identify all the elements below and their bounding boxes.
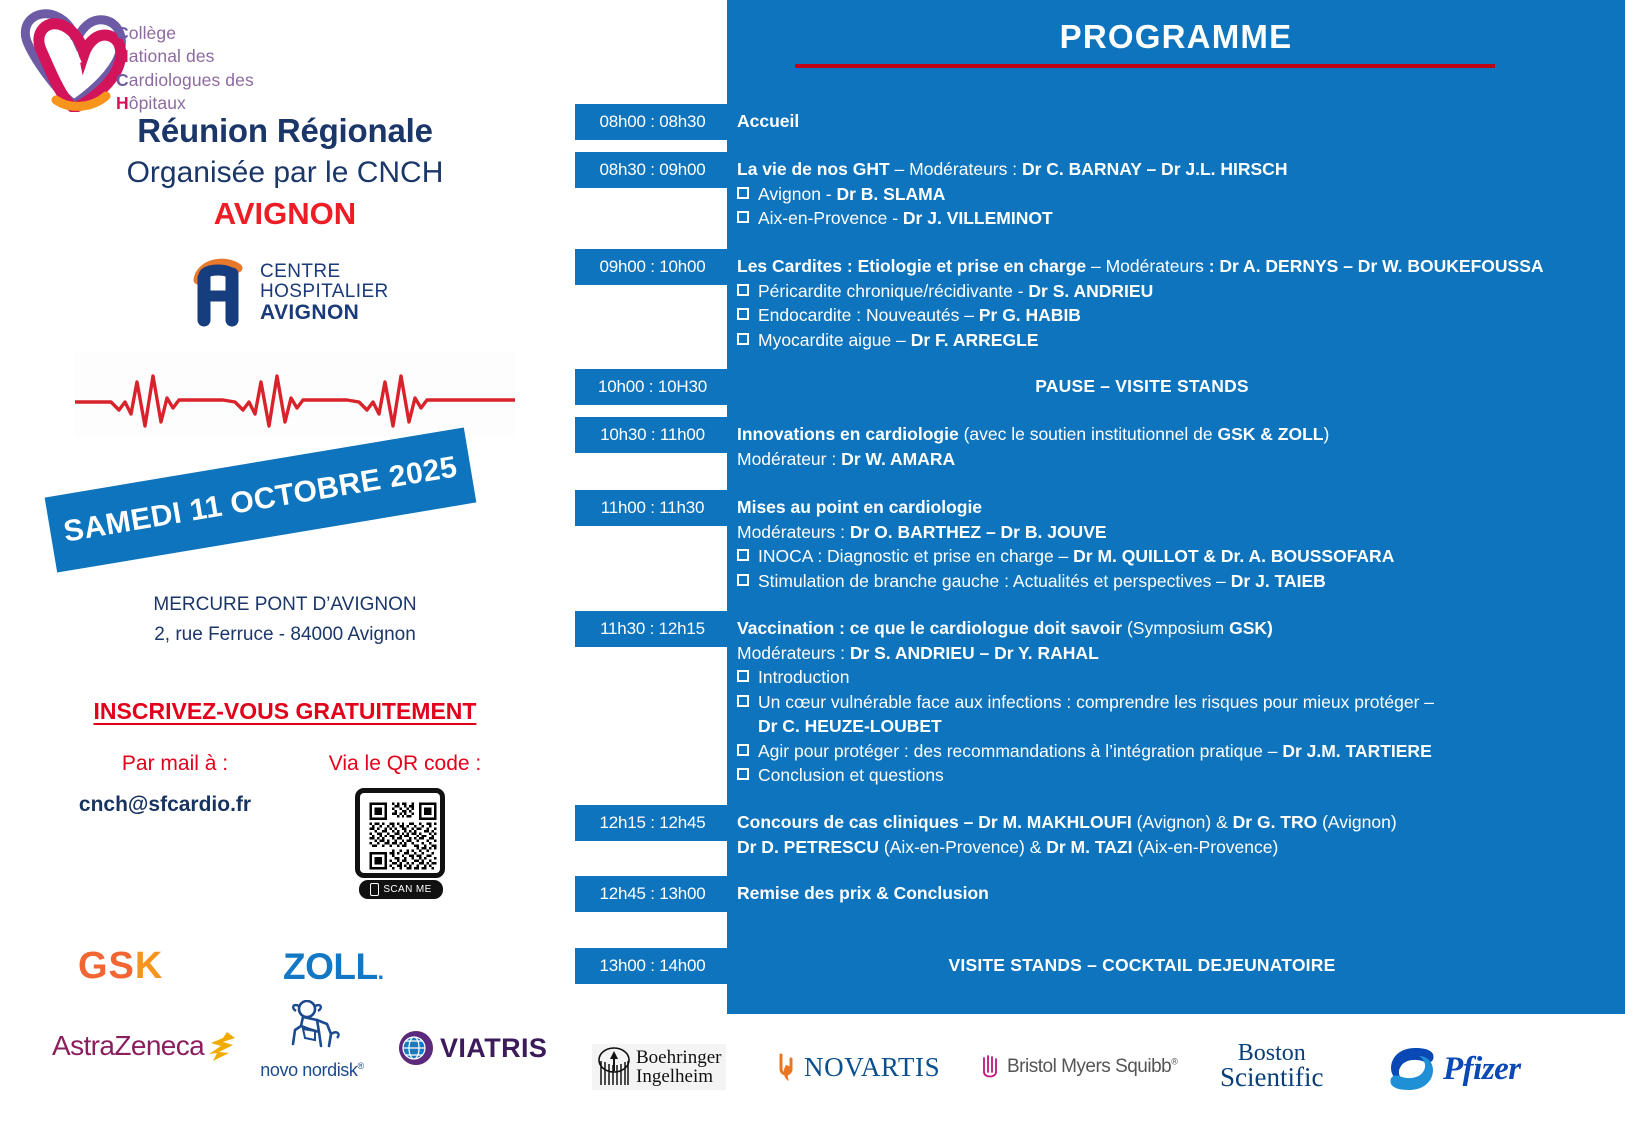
session-centered-line: VISITE STANDS – COCKTAIL DEJEUNATOIRE (737, 953, 1547, 978)
session-bullet-text: Conclusion et questions (758, 763, 1617, 788)
checkbox-bullet-icon (737, 333, 749, 345)
session-text-bold: Dr B. SLAMA (836, 184, 945, 204)
session-title-line: Concours de cas cliniques – Dr M. MAKHLO… (737, 810, 1617, 835)
event-subtitle: Organisée par le CNCH (0, 156, 570, 190)
session-body: Remise des prix & Conclusion (737, 881, 1617, 906)
session-text-bold: Accueil (737, 111, 799, 131)
hospital-line-2: HOSPITALIER (260, 282, 389, 302)
checkbox-bullet-icon (737, 211, 749, 223)
time-badge: 13h00 : 14h00 (575, 948, 730, 984)
gsk-part-1: GS (78, 945, 135, 987)
cnch-line-1: Collège (116, 22, 254, 45)
session-bullet-text: Endocardite : Nouveautés – Pr G. HABIB (758, 303, 1617, 328)
scan-me-badge: SCAN ME (359, 880, 443, 899)
session-bullet-row: Avignon - Dr B. SLAMA (737, 182, 1617, 207)
session-text-bold: Concours de cas cliniques – Dr M. MAKHLO… (737, 812, 1132, 832)
time-badge-label: 11h30 : 12h15 (600, 619, 705, 639)
boehringer-text-wrap: Boehringer Ingelheim (636, 1048, 721, 1086)
session-centered-line: PAUSE – VISITE STANDS (737, 374, 1547, 399)
session-bullet-row: Myocardite aigue – Dr F. ARREGLE (737, 328, 1617, 353)
session-text-bold: : Dr A. DERNYS – Dr W. BOUKEFOUSSA (1209, 256, 1544, 276)
session-bullet-row: Introduction (737, 665, 1617, 690)
venue-address: 2, rue Ferruce - 84000 Avignon (0, 624, 570, 646)
time-badge: 11h30 : 12h15 (575, 611, 730, 647)
session-text: Aix-en-Provence - (758, 208, 903, 228)
checkbox-bullet-icon (737, 187, 749, 199)
session-text-bold: Dr M. TAZI (1046, 837, 1132, 857)
novartis-text: NOVARTIS (804, 1052, 940, 1083)
time-badge: 10h30 : 11h00 (575, 417, 730, 453)
session-bullet-text: Un cœur vulnérable face aux infections :… (758, 690, 1617, 715)
session-text: (Aix-en-Provence) (1132, 837, 1278, 857)
session-bullet-text: Stimulation de branche gauche : Actualit… (758, 569, 1617, 594)
session-text-bold: Innovations en cardiologie (737, 424, 959, 444)
bms-mark: ® (1171, 1057, 1177, 1067)
session-text-bold: Dr S. ANDRIEU – Dr Y. RAHAL (850, 643, 1099, 663)
session-text: Un cœur vulnérable face aux infections :… (758, 692, 1434, 712)
novo-nordisk-text-wrap: novo nordisk® (258, 1060, 366, 1081)
session-bullet-text: INOCA : Diagnostic et prise en charge – … (758, 544, 1617, 569)
session-text: Péricardite chronique/récidivante - (758, 281, 1028, 301)
session-continuation-line: Dr C. HEUZE-LOUBET (758, 714, 1617, 739)
session-text: (avec le soutien institutionnel de (959, 424, 1218, 444)
session-text: (Avignon) (1317, 812, 1396, 832)
cnch-logo: Collège National des Cardiologues des Hô… (8, 2, 288, 112)
session-bullet-row: Endocardite : Nouveautés – Pr G. HABIB (737, 303, 1617, 328)
time-badge-label: 11h00 : 11h30 (601, 498, 705, 518)
checkbox-bullet-icon (737, 549, 749, 561)
date-banner: SAMEDI 11 OCTOBRE 2025 (45, 427, 477, 572)
programme-title: PROGRAMME (727, 18, 1625, 56)
session-bullet-row: Péricardite chronique/récidivante - Dr S… (737, 279, 1617, 304)
session-text-bold: Dr M. QUILLOT & Dr. A. BOUSSOFARA (1073, 546, 1394, 566)
boehringer-mark-icon (597, 1047, 631, 1087)
session-text: Stimulation de branche gauche : Actualit… (758, 571, 1231, 591)
session-text: ) (1323, 424, 1329, 444)
session-body: La vie de nos GHT – Modérateurs : Dr C. … (737, 157, 1617, 231)
session-title-line: Modérateur : Dr W. AMARA (737, 447, 1617, 472)
session-bullet-row: Conclusion et questions (737, 763, 1617, 788)
session-text-bold: GSK) (1229, 618, 1273, 638)
session-text-bold: Dr J. VILLEMINOT (903, 208, 1053, 228)
session-bullet-text: Agir pour protéger : des recommandations… (758, 739, 1617, 764)
session-text: Conclusion et questions (758, 765, 944, 785)
event-city: AVIGNON (0, 196, 570, 232)
session-body: VISITE STANDS – COCKTAIL DEJEUNATOIRE (737, 953, 1617, 978)
astrazeneca-logo: AstraZeneca (52, 1030, 237, 1062)
session-body: PAUSE – VISITE STANDS (737, 374, 1617, 399)
session-text: Modérateurs : (737, 522, 850, 542)
session-bullet-text: Péricardite chronique/récidivante - Dr S… (758, 279, 1617, 304)
hospital-wordmark: CENTRE HOSPITALIER AVIGNON (260, 262, 389, 325)
session-bullet-text: Myocardite aigue – Dr F. ARREGLE (758, 328, 1617, 353)
astrazeneca-text: AstraZeneca (52, 1030, 204, 1062)
time-badge-label: 12h15 : 12h45 (599, 813, 705, 833)
session-text: (Symposium (1122, 618, 1229, 638)
checkbox-bullet-icon (737, 574, 749, 586)
session-text: Modérateur : (737, 449, 841, 469)
session-text: Myocardite aigue – (758, 330, 911, 350)
session-body: Innovations en cardiologie (avec le sout… (737, 422, 1617, 471)
left-info-column: Collège National des Cardiologues des Hô… (0, 0, 570, 1125)
session-text-bold: VISITE STANDS – COCKTAIL DEJEUNATOIRE (949, 955, 1336, 975)
hospital-h-icon (190, 258, 252, 328)
viatris-globe-icon (398, 1030, 434, 1066)
cnch-line-2: National des (116, 45, 254, 68)
event-title-block: Réunion Régionale Organisée par le CNCH … (0, 112, 570, 232)
event-title: Réunion Régionale (0, 112, 570, 150)
session-body: Les Cardites : Etiologie et prise en cha… (737, 254, 1617, 352)
venue-block: MERCURE PONT D’AVIGNON 2, rue Ferruce - … (0, 594, 570, 646)
qr-code-icon[interactable] (367, 800, 439, 872)
session-text-bold: Dr D. PETRESCU (737, 837, 879, 857)
novo-nordisk-logo: novo nordisk® (258, 1000, 366, 1080)
time-badge-label: 10h00 : 10H30 (598, 377, 707, 397)
session-title-line: Vaccination : ce que le cardiologue doit… (737, 616, 1617, 641)
session-title-line: Accueil (737, 109, 1617, 134)
time-badge: 08h30 : 09h00 (575, 152, 730, 188)
bms-text-wrap: Bristol Myers Squibb® (1007, 1056, 1177, 1078)
session-title-line: Mises au point en cardiologie (737, 495, 1617, 520)
boehringer-line-1: Boehringer (636, 1048, 721, 1067)
session-title-line: Les Cardites : Etiologie et prise en cha… (737, 254, 1617, 279)
novartis-flame-icon (775, 1053, 797, 1083)
ecg-heartbeat-graphic (75, 352, 515, 437)
cnch-line-3: Cardiologues des (116, 69, 254, 92)
boehringer-ingelheim-logo: Boehringer Ingelheim (592, 1044, 726, 1090)
session-bullet-row: Aix-en-Provence - Dr J. VILLEMINOT (737, 206, 1617, 231)
session-bullet-row: Stimulation de branche gauche : Actualit… (737, 569, 1617, 594)
gsk-logo: GSK (78, 945, 163, 988)
session-text-bold: La vie de nos GHT (737, 159, 890, 179)
session-text: – Modérateurs : (890, 159, 1022, 179)
checkbox-bullet-icon (737, 308, 749, 320)
zoll-text: ZOLL (283, 946, 378, 987)
session-text: Avignon - (758, 184, 836, 204)
registration-qr-label: Via le QR code : (290, 752, 520, 776)
session-text-bold: Dr W. AMARA (841, 449, 955, 469)
zoll-dot: . (378, 958, 384, 984)
session-bullet-row: INOCA : Diagnostic et prise en charge – … (737, 544, 1617, 569)
bottom-sponsor-strip: Boehringer Ingelheim NOVARTIS Bristol My… (580, 1024, 1625, 1125)
checkbox-bullet-icon (737, 670, 749, 682)
pfizer-helix-icon (1385, 1042, 1439, 1096)
session-text-bold: PAUSE – VISITE STANDS (1035, 376, 1249, 396)
qr-code-frame[interactable] (355, 788, 445, 878)
time-badge: 12h15 : 12h45 (575, 805, 730, 841)
session-text-bold: Vaccination : ce que le cardiologue doit… (737, 618, 1122, 638)
time-badge-label: 12h45 : 13h00 (599, 884, 705, 904)
registration-mail-label: Par mail à : (60, 752, 290, 776)
session-text: INOCA : Diagnostic et prise en charge – (758, 546, 1073, 566)
time-badge: 08h00 : 08h30 (575, 104, 730, 140)
checkbox-bullet-icon (737, 768, 749, 780)
session-text-bold: Dr C. HEUZE-LOUBET (758, 716, 942, 736)
time-badge: 09h00 : 10h00 (575, 249, 730, 285)
checkbox-bullet-icon (737, 284, 749, 296)
bms-mark-icon (980, 1054, 1002, 1080)
session-title-line: Modérateurs : Dr S. ANDRIEU – Dr Y. RAHA… (737, 641, 1617, 666)
time-badge-label: 09h00 : 10h00 (599, 257, 705, 277)
session-text: – Modérateurs (1086, 256, 1209, 276)
pfizer-text: Pfizer (1443, 1051, 1521, 1088)
pfizer-logo: Pfizer (1385, 1042, 1521, 1096)
session-text: (Avignon) & (1132, 812, 1233, 832)
time-badge: 11h00 : 11h30 (575, 490, 730, 526)
session-body: Accueil (737, 109, 1617, 134)
session-text-bold: Dr C. BARNAY – Dr J.L. HIRSCH (1022, 159, 1287, 179)
session-bullet-text: Introduction (758, 665, 1617, 690)
session-text-bold: Dr S. ANDRIEU (1028, 281, 1153, 301)
time-badge-label: 13h00 : 14h00 (599, 956, 705, 976)
session-text-bold: Dr G. TRO (1233, 812, 1318, 832)
checkbox-bullet-icon (737, 744, 749, 756)
session-text-bold: GSK & ZOLL (1217, 424, 1323, 444)
time-badge-label: 10h30 : 11h00 (600, 425, 705, 445)
boston-scientific-logo: Boston Scientific (1220, 1042, 1323, 1090)
session-title-line: Remise des prix & Conclusion (737, 881, 1617, 906)
novo-nordisk-bull-icon (279, 1000, 345, 1058)
session-text-bold: Dr J.M. TARTIERE (1282, 741, 1431, 761)
cnch-heart-icon (12, 4, 132, 112)
qr-code-block[interactable]: SCAN ME (355, 788, 445, 900)
session-body: Concours de cas cliniques – Dr M. MAKHLO… (737, 810, 1617, 859)
session-text: (Aix-en-Provence) & (879, 837, 1046, 857)
centre-hospitalier-avignon-logo: CENTRE HOSPITALIER AVIGNON (190, 258, 425, 330)
venue-name: MERCURE PONT D’AVIGNON (0, 594, 570, 616)
session-title-line: La vie de nos GHT – Modérateurs : Dr C. … (737, 157, 1617, 182)
time-badge: 12h45 : 13h00 (575, 876, 730, 912)
registration-heading: INSCRIVEZ-VOUS GRATUITEMENT (0, 698, 570, 725)
boston-scientific-text-wrap: Boston Scientific (1220, 1042, 1323, 1090)
bristol-myers-squibb-logo: Bristol Myers Squibb® (980, 1054, 1177, 1080)
novo-nordisk-text: novo nordisk (260, 1060, 357, 1080)
programme-title-rule (795, 64, 1495, 68)
checkbox-bullet-icon (737, 695, 749, 707)
session-text-bold: Remise des prix & Conclusion (737, 883, 989, 903)
boehringer-line-2: Ingelheim (636, 1067, 721, 1086)
session-title-line: Modérateurs : Dr O. BARTHEZ – Dr B. JOUV… (737, 520, 1617, 545)
viatris-logo: VIATRIS (398, 1030, 547, 1066)
astrazeneca-mark-icon (207, 1030, 237, 1062)
session-text-bold: Les Cardites : Etiologie et prise en cha… (737, 256, 1086, 276)
session-bullet-row: Un cœur vulnérable face aux infections :… (737, 690, 1617, 715)
viatris-text: VIATRIS (440, 1033, 547, 1064)
time-badge: 10h00 : 10H30 (575, 369, 730, 405)
registration-email[interactable]: cnch@sfcardio.fr (40, 793, 290, 817)
time-badge-label: 08h00 : 08h30 (599, 112, 705, 132)
session-text-bold: Dr O. BARTHEZ – Dr B. JOUVE (850, 522, 1107, 542)
session-text: Modérateurs : (737, 643, 850, 663)
session-text-bold: Pr G. HABIB (979, 305, 1081, 325)
session-body: Vaccination : ce que le cardiologue doit… (737, 616, 1617, 788)
session-text-bold: Dr J. TAIEB (1231, 571, 1326, 591)
phone-icon (370, 883, 379, 896)
session-text-bold: Dr F. ARREGLE (911, 330, 1039, 350)
novartis-logo: NOVARTIS (775, 1052, 940, 1083)
session-text-bold: Mises au point en cardiologie (737, 497, 982, 517)
gsk-part-2: K (135, 945, 163, 987)
session-text: Agir pour protéger : des recommandations… (758, 741, 1282, 761)
session-title-line: Dr D. PETRESCU (Aix-en-Provence) & Dr M.… (737, 835, 1617, 860)
scan-me-label: SCAN ME (383, 884, 431, 895)
session-body: Mises au point en cardiologieModérateurs… (737, 495, 1617, 593)
session-bullet-text: Aix-en-Provence - Dr J. VILLEMINOT (758, 206, 1617, 231)
boston-scientific-line-2: Scientific (1220, 1065, 1323, 1091)
session-title-line: Innovations en cardiologie (avec le sout… (737, 422, 1617, 447)
hospital-line-1: CENTRE (260, 262, 389, 282)
novo-nordisk-mark: ® (358, 1061, 364, 1071)
session-bullet-row: Agir pour protéger : des recommandations… (737, 739, 1617, 764)
session-bullet-text: Avignon - Dr B. SLAMA (758, 182, 1617, 207)
date-text: SAMEDI 11 OCTOBRE 2025 (61, 450, 460, 549)
time-badge-label: 08h30 : 09h00 (599, 160, 705, 180)
session-text: Introduction (758, 667, 849, 687)
bms-text: Bristol Myers Squibb (1007, 1056, 1171, 1077)
hospital-line-3: AVIGNON (260, 302, 389, 324)
zoll-logo: ZOLL. (283, 946, 383, 988)
cnch-wordmark: Collège National des Cardiologues des Hô… (116, 22, 254, 115)
session-text: Endocardite : Nouveautés – (758, 305, 979, 325)
